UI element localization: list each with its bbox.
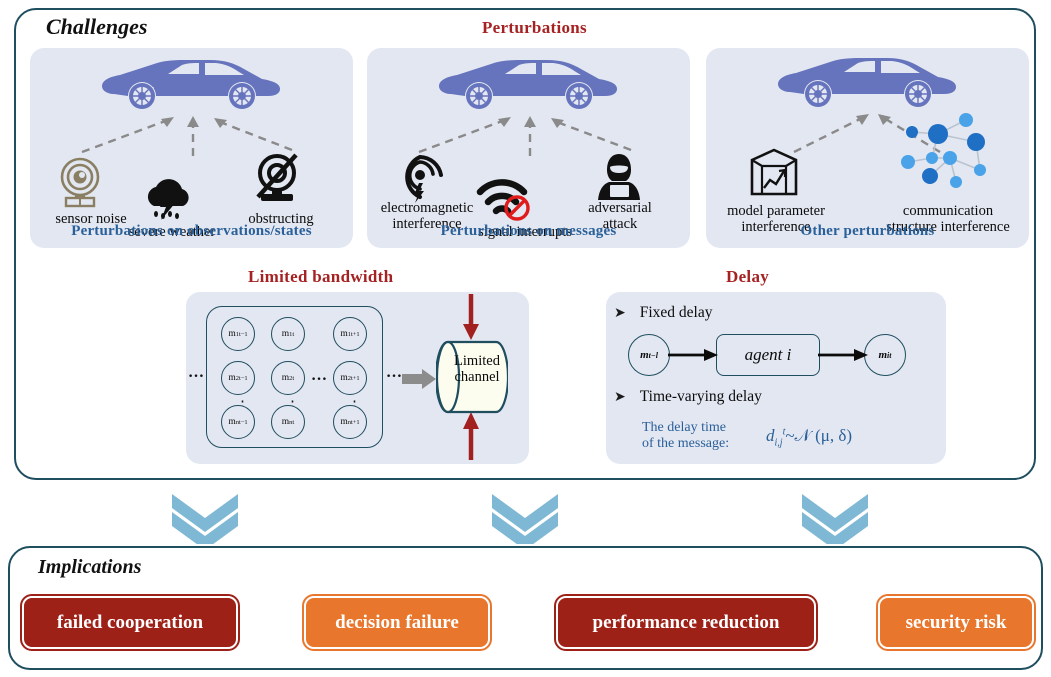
limited-bandwidth-title: Limited bandwidth	[248, 267, 393, 287]
model-parameter-interference-icon	[742, 144, 806, 202]
grid-ellipsis-right: …	[386, 364, 402, 382]
implication-chip-label: decision failure	[335, 612, 459, 634]
bandwidth-pressure-arrow-top	[461, 294, 481, 342]
message-cell: mnt−1	[221, 405, 255, 439]
delay-title: Delay	[726, 267, 769, 287]
message-cell: m1t−1	[221, 317, 255, 351]
implication-chip-decision-failure[interactable]: decision failure	[304, 596, 490, 649]
message-cell: mnt+1	[333, 405, 367, 439]
delay-note-line1: The delay time	[642, 420, 726, 435]
bandwidth-pressure-arrow-bottom	[461, 412, 481, 460]
grid-ellipsis-mid: …	[311, 367, 327, 385]
message-cell: m2t+1	[333, 361, 367, 395]
panel-perturbations-messages: electromagneticinterference signal inter…	[367, 48, 690, 248]
message-cell: m1t+1	[333, 317, 367, 351]
flow-arrow-icon	[402, 368, 438, 390]
message-cell: m2t	[271, 361, 305, 395]
message-cell: m2t−1	[221, 361, 255, 395]
limited-channel-label: Limited channel	[446, 354, 508, 386]
implication-chip-label: security risk	[906, 612, 1007, 634]
implication-chip-label: performance reduction	[593, 612, 780, 634]
car-icon	[774, 56, 960, 112]
car-icon	[435, 58, 621, 114]
bullet-fixed-delay: ➤ Fixed delay	[614, 304, 712, 322]
flow-chevrons-mid	[488, 492, 562, 544]
panel-delay: ➤ Fixed delay mt−l agent i mit ➤ Time-va…	[606, 292, 946, 464]
grid-ellipsis-left: …	[188, 364, 204, 382]
car-icon	[98, 58, 284, 114]
communication-structure-interference-icon	[888, 110, 1012, 196]
bullet-fixed-delay-label: Fixed delay	[640, 304, 713, 322]
challenges-title: Challenges	[46, 14, 147, 40]
limited-channel-line1: Limited	[454, 353, 500, 369]
signal-interrupts-icon	[475, 178, 537, 224]
adversarial-attack-icon	[595, 152, 643, 202]
panel-other-perturbations: model parameterinterference communicatio…	[706, 48, 1029, 248]
obstructing-icon	[252, 153, 304, 207]
agent-box: agent i	[716, 334, 820, 376]
implication-chip-performance-reduction[interactable]: performance reduction	[556, 596, 816, 649]
agent-label: agent i	[745, 345, 792, 365]
panel-other-caption: Other perturbations	[706, 223, 1029, 240]
panel-messages-caption: Perturbations on messages	[367, 223, 690, 240]
delay-arrow-2	[818, 348, 868, 362]
delay-input-node: mt−l	[628, 334, 670, 376]
flow-chevrons-right	[798, 492, 872, 544]
delay-output-node: mit	[864, 334, 906, 376]
delay-note: The delay time of the message:	[642, 420, 729, 452]
delay-arrow-1	[668, 348, 718, 362]
implication-chip-security-risk[interactable]: security risk	[878, 596, 1034, 649]
implication-chip-label: failed cooperation	[57, 612, 203, 634]
bullet-marker-icon: ➤	[614, 305, 626, 322]
panel-observations-caption: Perturbations on observations/states	[30, 223, 353, 240]
delay-note-line2: of the message:	[642, 436, 729, 451]
implications-title: Implications	[38, 556, 141, 579]
message-grid: m1t−1 m1t m1t+1 m2t−1 m2t m2t+1 … ⋮ ⋮ ⋮ …	[206, 306, 383, 448]
implication-chip-failed-cooperation[interactable]: failed cooperation	[22, 596, 238, 649]
message-cell: m1t	[271, 317, 305, 351]
perturbations-section-title: Perturbations	[482, 18, 587, 38]
electromagnetic-interference-icon	[393, 153, 447, 203]
limited-channel-line2: channel	[454, 369, 499, 385]
flow-chevrons-left	[168, 492, 242, 544]
bullet-time-varying-delay-label: Time-varying delay	[640, 388, 762, 406]
panel-perturbations-observations: sensor noise severe weather obstructing …	[30, 48, 353, 248]
panel-limited-bandwidth: … m1t−1 m1t m1t+1 m2t−1 m2t m2t+1 … ⋮ ⋮ …	[186, 292, 529, 464]
severe-weather-icon	[140, 176, 196, 224]
message-cell: mnt	[271, 405, 305, 439]
bullet-time-varying-delay: ➤ Time-varying delay	[614, 388, 762, 406]
delay-formula: di,jt~𝒩 (μ, δ)	[766, 426, 852, 448]
bullet-marker-icon: ➤	[614, 389, 626, 406]
sensor-noise-icon	[56, 156, 104, 208]
